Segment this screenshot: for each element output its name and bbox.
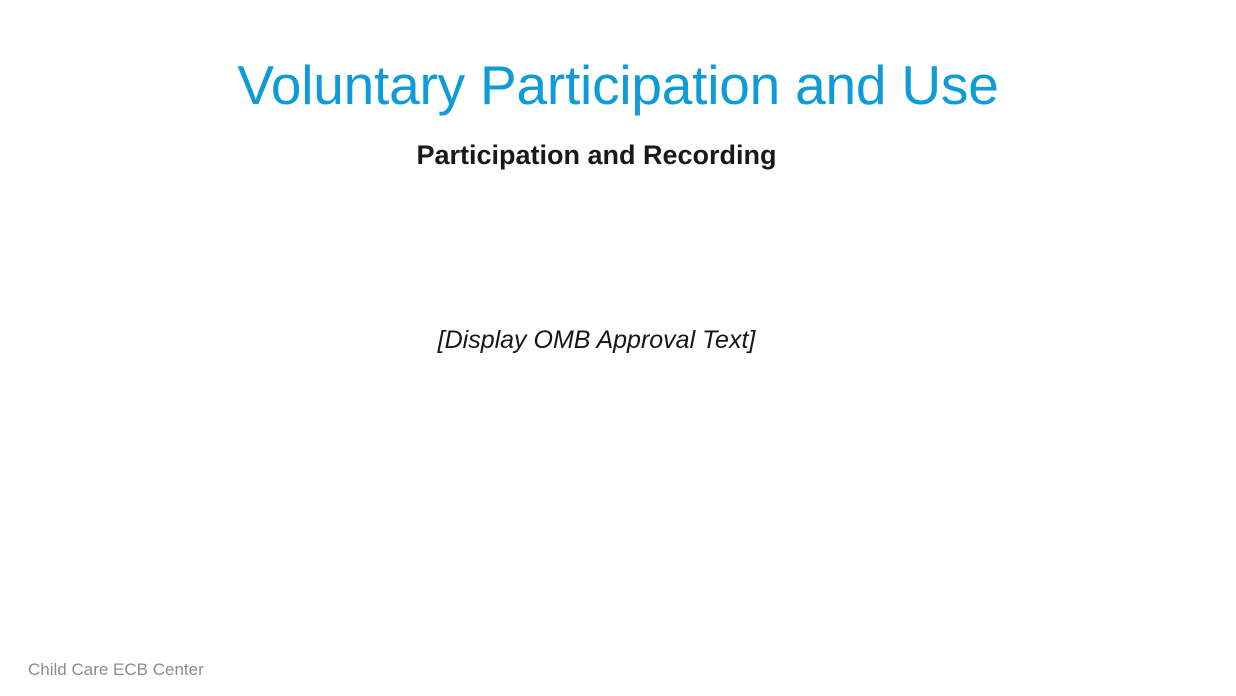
page-title: Voluntary Participation and Use — [0, 49, 1236, 121]
slide-canvas: Voluntary Participation and Use Particip… — [0, 0, 1236, 696]
slide-footer: Child Care ECB Center — [28, 658, 204, 682]
slide-body-text: [Display OMB Approval Text] — [0, 321, 1193, 359]
slide-subtitle: Participation and Recording — [0, 135, 1193, 175]
